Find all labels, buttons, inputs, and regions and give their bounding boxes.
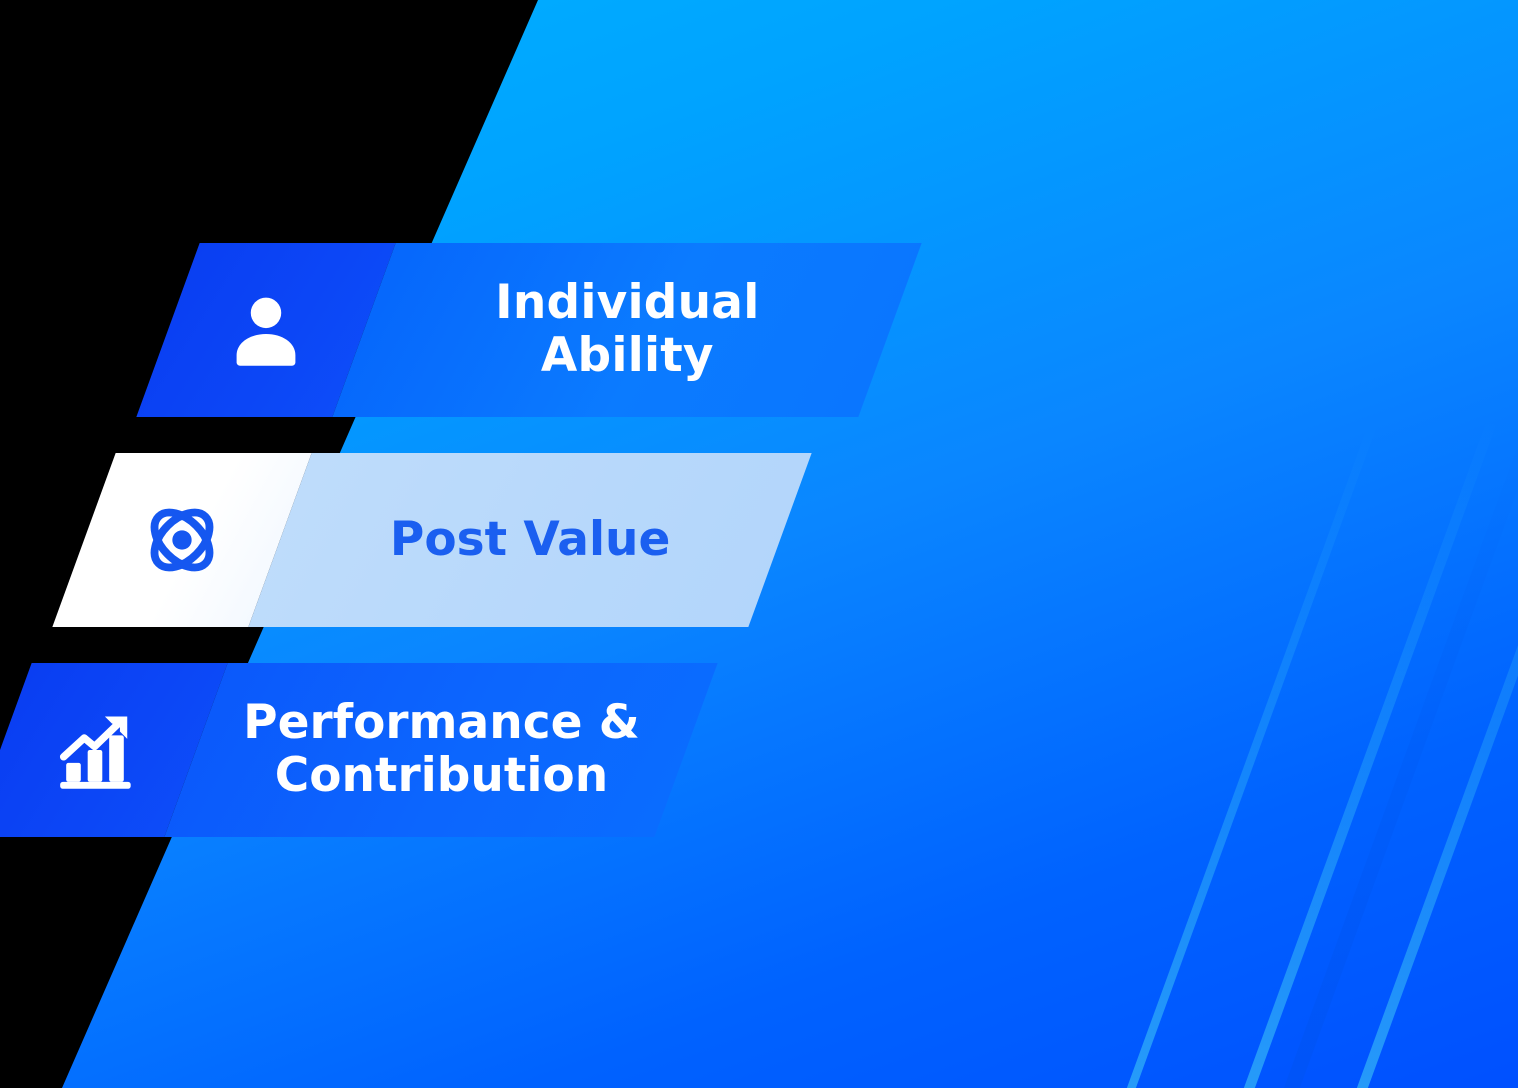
- band-performance-contribution[interactable]: Performance & Contribution: [0, 663, 686, 837]
- band-individual-ability-label: Individual Ability: [495, 277, 759, 382]
- band-post-value-text-panel: Post Value: [248, 453, 811, 627]
- bar-chart-growth-icon: [55, 707, 141, 793]
- atom-icon: [136, 494, 228, 586]
- diagonal-accent-line: [824, 420, 1379, 1088]
- band-performance-contribution-label: Performance & Contribution: [243, 697, 640, 802]
- band-post-value[interactable]: Post Value: [84, 453, 780, 627]
- band-performance-contribution-text-panel: Performance & Contribution: [164, 663, 717, 837]
- band-post-value-label: Post Value: [390, 514, 671, 567]
- person-icon: [224, 288, 308, 372]
- band-individual-ability-text-panel: Individual Ability: [332, 243, 921, 417]
- band-individual-ability[interactable]: Individual Ability: [168, 243, 890, 417]
- infographic-canvas: Individual Ability Post V: [0, 0, 1518, 1088]
